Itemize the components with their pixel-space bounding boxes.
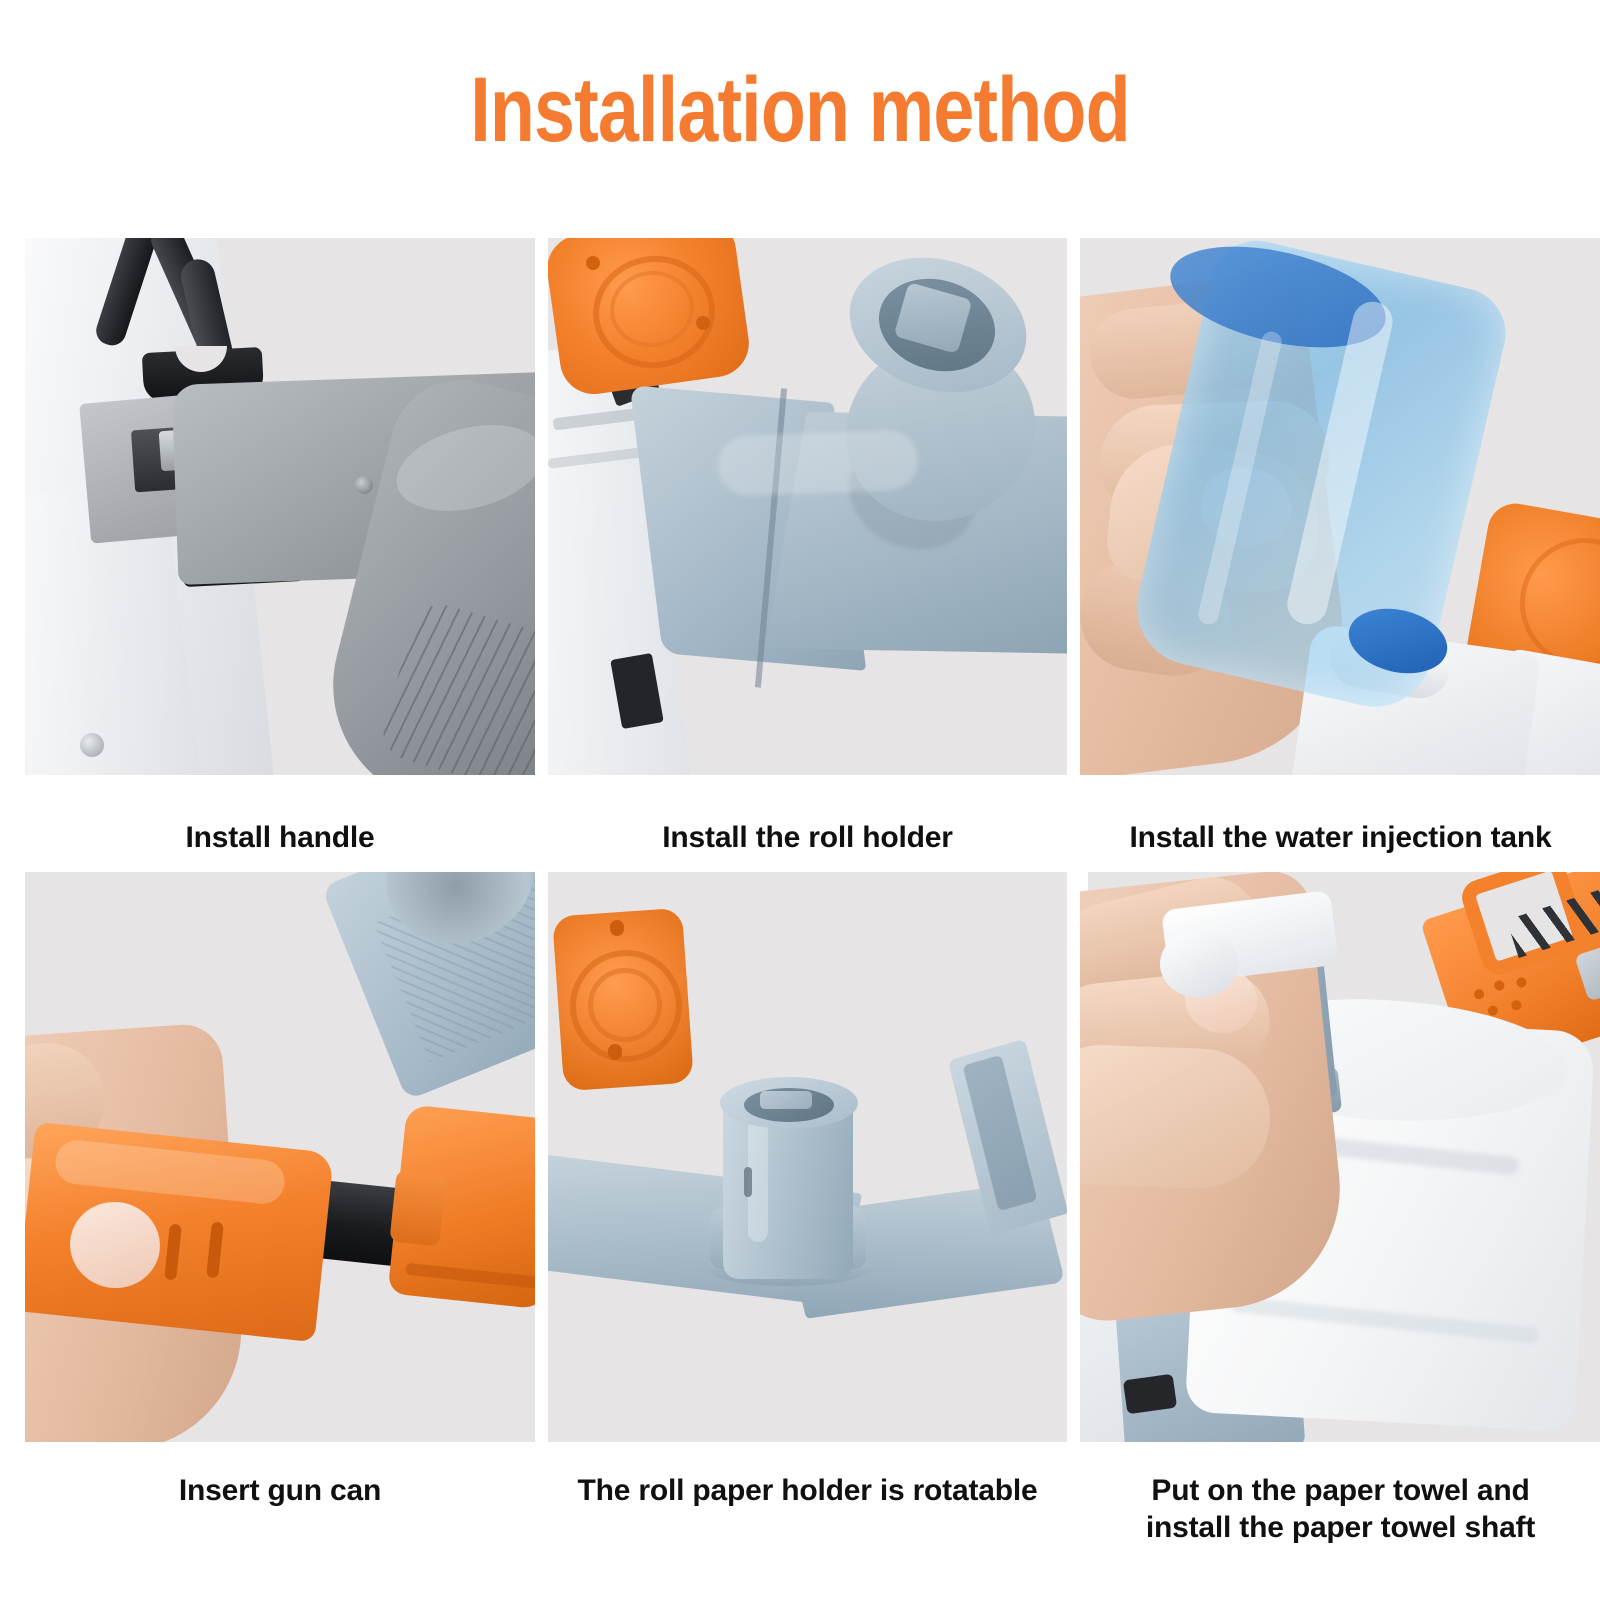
step-photo-6 [1080, 872, 1600, 1442]
step-card-4: Insert gun can [25, 872, 535, 1562]
step-card-6: Put on the paper towel and install the p… [1080, 872, 1600, 1562]
step-caption-5-line1: The roll paper holder is rotatable [578, 1474, 1038, 1507]
step-caption-2: Install the roll holder [548, 775, 1067, 872]
step-caption-6: Put on the paper towel and install the p… [1080, 1442, 1600, 1562]
step-caption-4-line1: Insert gun can [179, 1474, 381, 1507]
step-card-1: Install handle [25, 238, 535, 872]
step-card-2: Install the roll holder [548, 238, 1067, 872]
step-caption-3-line1: Install the water injection tank [1129, 821, 1551, 854]
step-caption-1-line1: Install handle [186, 821, 375, 854]
step-photo-4 [25, 872, 535, 1442]
page-title: Installation method [160, 58, 1440, 162]
step-caption-2-line1: Install the roll holder [662, 821, 952, 854]
step-photo-3 [1080, 238, 1600, 775]
step-card-3: Install the water injection tank [1080, 238, 1600, 872]
step-caption-3: Install the water injection tank [1080, 775, 1600, 872]
step-caption-6-line2: install the paper towel shaft [1080, 1509, 1600, 1546]
step-photo-2 [548, 238, 1067, 775]
step-photo-5 [548, 872, 1067, 1442]
step-photo-1 [25, 238, 535, 775]
step-caption-4: Insert gun can [25, 1442, 535, 1525]
step-caption-1: Install handle [25, 775, 535, 872]
step-caption-5: The roll paper holder is rotatable [548, 1442, 1067, 1525]
step-card-5: The roll paper holder is rotatable [548, 872, 1067, 1562]
step-caption-6-line1: Put on the paper towel and [1080, 1472, 1600, 1509]
installation-steps-grid: Install handle Install the roll [25, 238, 1575, 1562]
